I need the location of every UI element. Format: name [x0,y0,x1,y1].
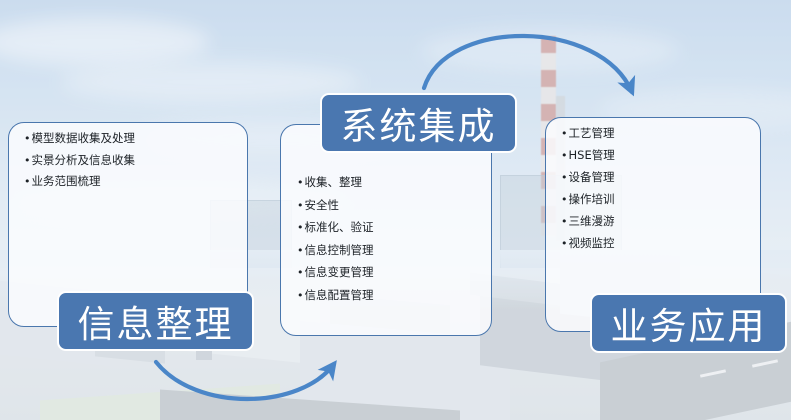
stage-badge-integration[interactable]: 系统集成 [320,93,517,153]
list-item: 标准化、验证 [297,222,483,234]
list-item: 信息配置管理 [297,290,483,302]
stage-badge-application[interactable]: 业务应用 [590,293,787,353]
list-item: 操作培训 [561,194,752,206]
stage-bullet-list: 收集、整理 安全性 标准化、验证 信息控制管理 信息变更管理 信息配置管理 [297,177,483,312]
list-item: 业务范围梳理 [24,176,239,188]
stage-card-integration[interactable]: 收集、整理 安全性 标准化、验证 信息控制管理 信息变更管理 信息配置管理 [280,124,492,336]
diagram-canvas: 模型数据收集及处理 实景分析及信息收集 业务范围梳理 收集、整理 安全性 标准化… [0,0,791,420]
stage-bullet-list: 模型数据收集及处理 实景分析及信息收集 业务范围梳理 [24,133,239,198]
arrow-info-to-integration [424,36,632,92]
list-item: 实景分析及信息收集 [24,155,239,167]
list-item: 工艺管理 [561,128,752,140]
arrow-integration-to-application [156,362,334,399]
list-item: HSE管理 [561,150,752,162]
stage-bullet-list: 工艺管理 HSE管理 设备管理 操作培训 三维漫游 视频监控 [561,128,752,260]
list-item: 模型数据收集及处理 [24,133,239,145]
list-item: 三维漫游 [561,216,752,228]
list-item: 信息变更管理 [297,267,483,279]
list-item: 视频监控 [561,238,752,250]
list-item: 安全性 [297,200,483,212]
list-item: 设备管理 [561,172,752,184]
list-item: 收集、整理 [297,177,483,189]
stage-badge-info[interactable]: 信息整理 [57,291,254,351]
list-item: 信息控制管理 [297,245,483,257]
